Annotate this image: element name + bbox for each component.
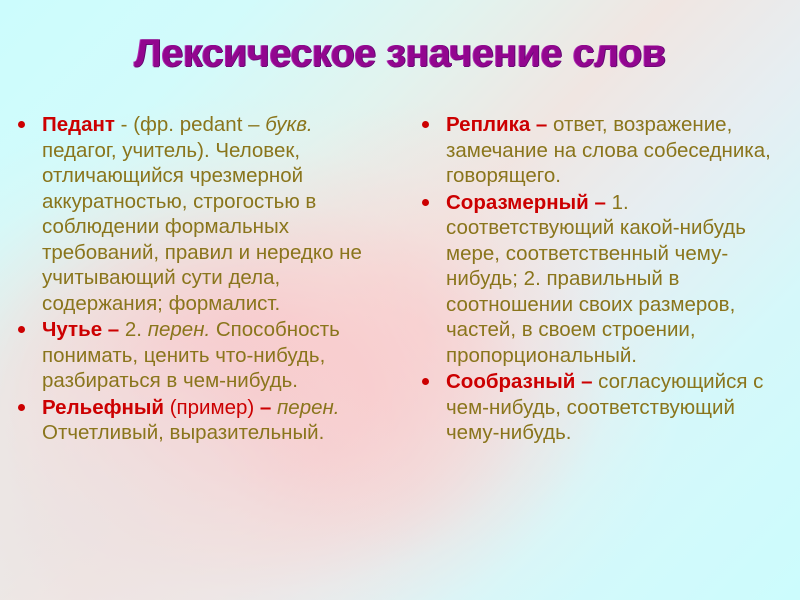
entry-dash: – [589,191,612,214]
entry-dash: – [575,370,598,393]
right-column: Реплика – ответ, возражение, замечание н… [400,112,800,446]
entry-headword: Рельефный [42,396,164,419]
bullet-icon [18,404,25,411]
entry-dash: – [102,318,125,341]
entry-headword: Чутье [42,318,102,341]
bullet-icon [422,121,429,128]
page-title: Лексическое значение слов [134,34,665,75]
slide-canvas: Лексическое значение слов Педант - (фр. … [0,0,800,600]
list-item: Сообразный – согласующийся с чем-нибудь,… [414,369,794,446]
left-column-entry-list: Педант - (фр. pedant – букв. педагог, уч… [10,112,392,446]
list-item: Чутье – 2. перен. Способность понимать, … [10,317,392,394]
entry-usage-label: перен. [277,396,339,419]
left-column: Педант - (фр. pedant – букв. педагог, уч… [0,112,400,446]
entry-definition: 1. соответствующий какой-нибудь мере, со… [446,191,746,367]
right-column-entry-list: Реплика – ответ, возражение, замечание н… [414,112,794,446]
list-item: Рельефный (пример) – перен. Отчетливый, … [10,395,392,446]
entry-headword: Реплика [446,113,530,136]
slide-title-container: Лексическое значение слов [0,34,800,75]
entry-dash: – [254,396,277,419]
list-item: Педант - (фр. pedant – букв. педагог, уч… [10,112,392,316]
entry-headword: Соразмерный [446,191,589,214]
list-item: Реплика – ответ, возражение, замечание н… [414,112,794,189]
entry-dash: – [530,113,553,136]
bullet-icon [18,326,25,333]
list-item: Соразмерный – 1. соответствующий какой-н… [414,190,794,369]
entry-headword: Педант [42,113,115,136]
bullet-icon [18,121,25,128]
entry-headword: Сообразный [446,370,575,393]
entry-etymology-label: букв. [265,113,312,136]
entry-etymology-prefix: фр. pedant – [140,113,265,136]
entry-definition: Отчетливый, выразительный. [42,421,324,444]
entry-qualifier: (пример) [164,396,254,419]
bullet-icon [422,199,429,206]
entry-definition: педагог, учитель). Человек, отличающийся… [42,139,362,315]
entry-dash: - ( [115,113,140,136]
bullet-icon [422,378,429,385]
entry-sense-number: 2. [125,318,148,341]
entry-usage-label: перен. [148,318,210,341]
content-columns: Педант - (фр. pedant – букв. педагог, уч… [0,112,800,592]
